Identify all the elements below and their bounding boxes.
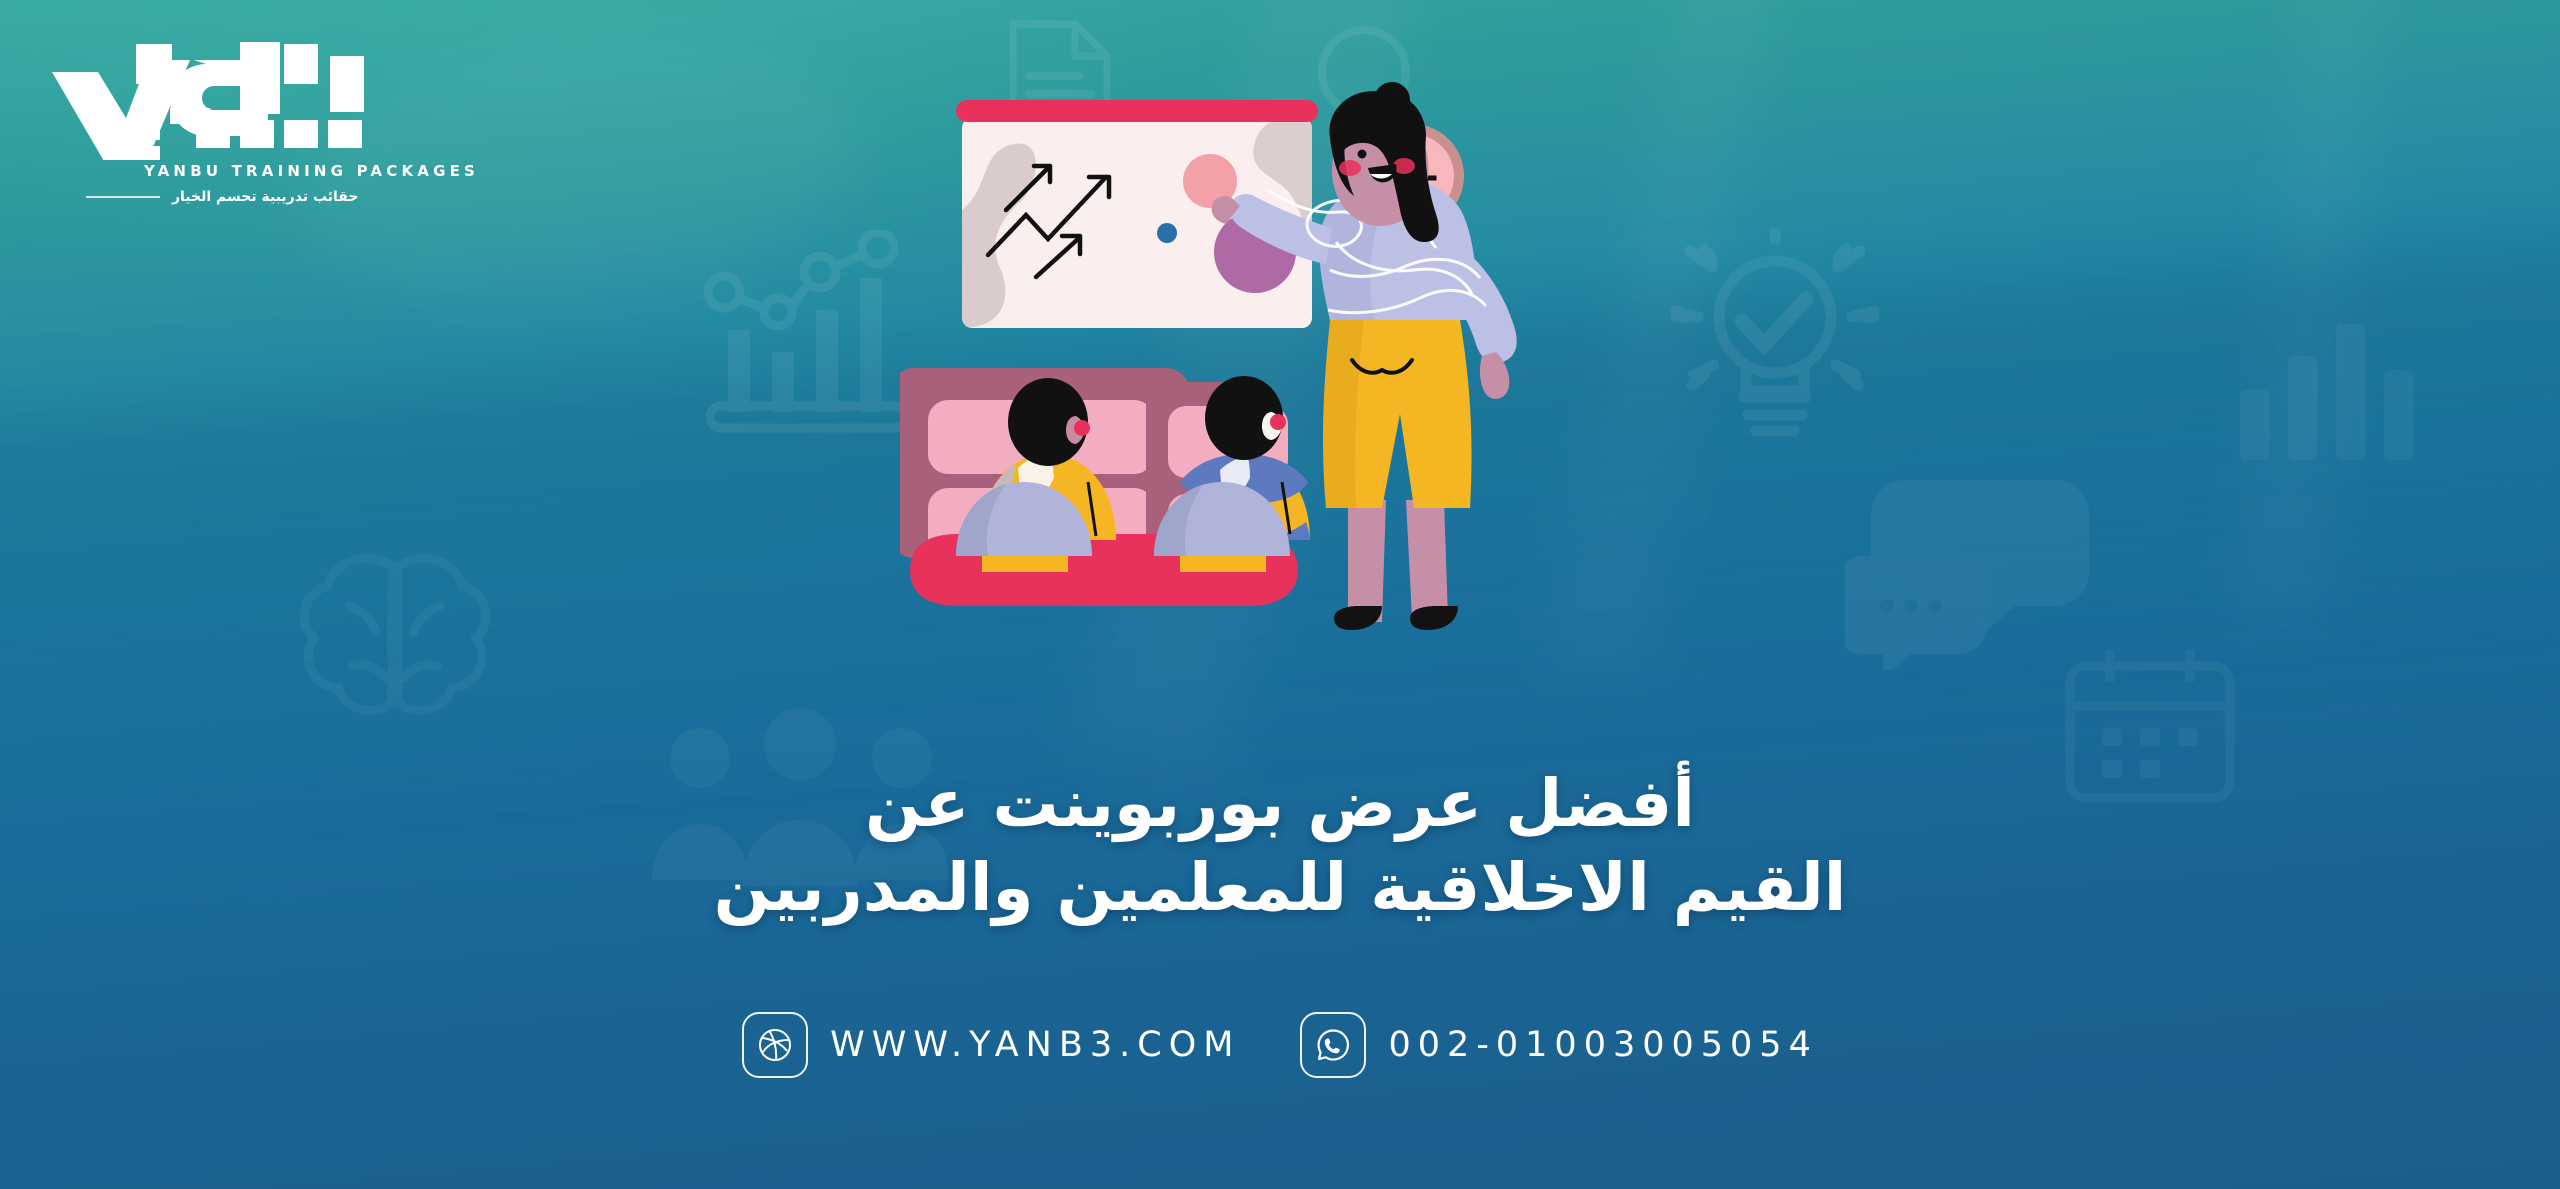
training-illustration	[900, 70, 1620, 720]
brain-icon	[280, 540, 510, 750]
logo-tagline-arabic: حقائب تدريبية تحسم الخيار	[172, 189, 358, 205]
headline-line-2: القيم الاخلاقية للمعلمين والمدربين	[0, 846, 2560, 930]
chat-bubbles-icon	[1845, 470, 2095, 670]
whatsapp-icon	[1300, 1012, 1366, 1078]
website-contact[interactable]: WWW.YANB3.COM	[742, 1012, 1240, 1078]
audience-group	[900, 368, 1310, 606]
contact-bar: WWW.YANB3.COM 002-01003005054	[0, 1012, 2560, 1078]
bar-chart-icon	[700, 230, 930, 440]
whatsapp-contact[interactable]: 002-01003005054	[1300, 1012, 1817, 1078]
promo-banner: YANBU TRAINING PACKAGES حقائب تدريبية تح…	[0, 0, 2560, 1189]
headline: أفضل عرض بوربوينت عن القيم الاخلاقية للم…	[0, 762, 2560, 931]
globe-icon	[742, 1012, 808, 1078]
whatsapp-number: 002-01003005054	[1388, 1025, 1817, 1065]
lightbulb-check-icon	[1660, 225, 1890, 455]
logo-arabic-wordmark-icon	[44, 42, 374, 160]
logo-divider	[86, 196, 160, 198]
website-url: WWW.YANB3.COM	[830, 1025, 1240, 1065]
bars-icon	[2230, 300, 2420, 470]
logo-english-text: YANBU TRAINING PACKAGES	[144, 162, 374, 180]
headline-line-1: أفضل عرض بوربوينت عن	[0, 762, 2560, 846]
brand-logo[interactable]: YANBU TRAINING PACKAGES حقائب تدريبية تح…	[44, 42, 374, 205]
